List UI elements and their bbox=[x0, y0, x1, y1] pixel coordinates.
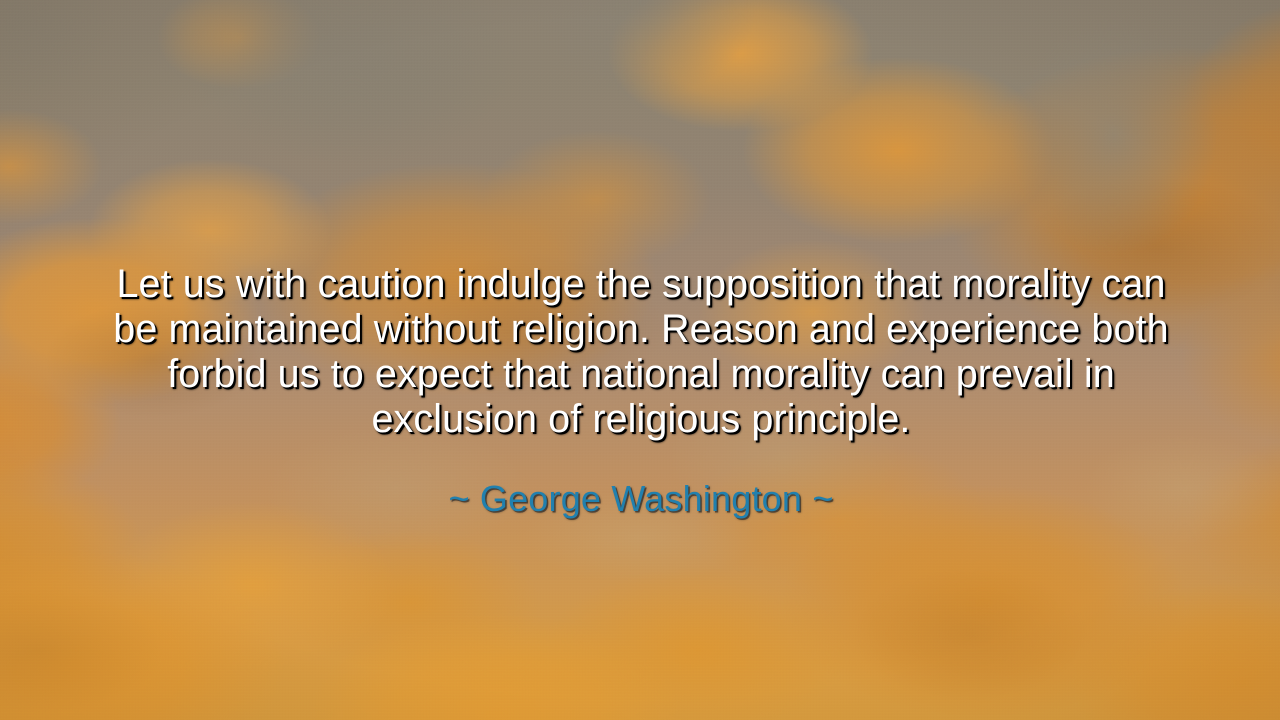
quote-attribution: ~ George Washington ~ bbox=[110, 442, 1172, 520]
quote-text: Let us with caution indulge the supposit… bbox=[110, 262, 1172, 442]
quote-image-canvas: Let us with caution indulge the supposit… bbox=[0, 0, 1280, 720]
quote-text-block: Let us with caution indulge the supposit… bbox=[110, 262, 1172, 520]
